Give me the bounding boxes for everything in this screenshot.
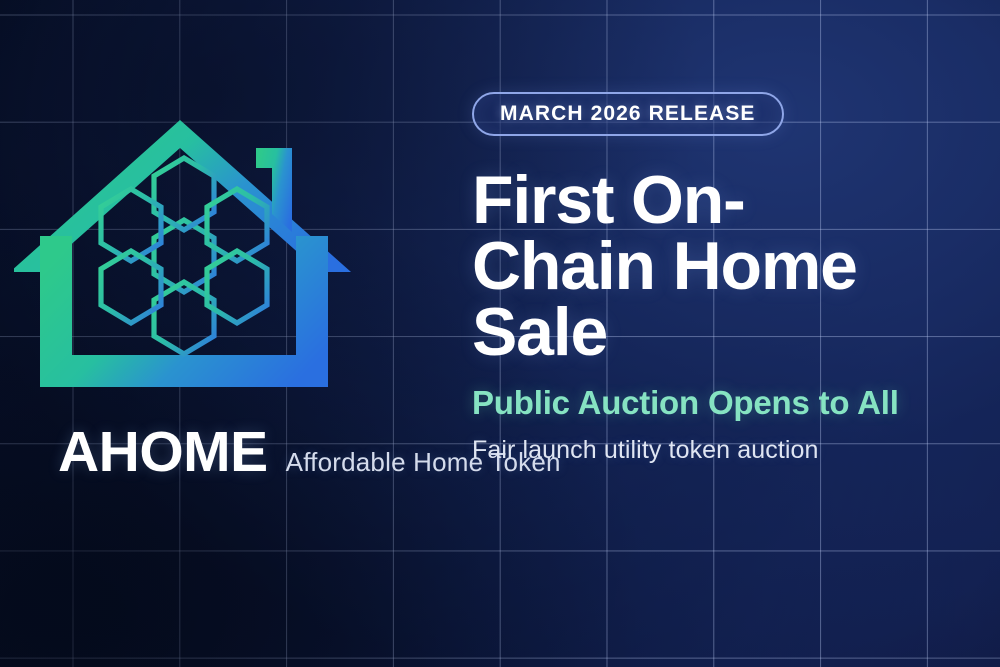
subtitle: Public Auction Opens to All [472, 386, 972, 421]
house-hexagon-logo-icon [14, 112, 354, 397]
announcement-copy-block: MARCH 2026 RELEASE First On-Chain Home S… [472, 92, 972, 464]
announcement-banner: AHOME Affordable Home Token MARCH 2026 R… [0, 0, 1000, 667]
release-date-badge: MARCH 2026 RELEASE [472, 92, 784, 136]
supporting-text: Fair launch utility token auction [472, 437, 972, 465]
release-date-badge-label: MARCH 2026 RELEASE [500, 102, 756, 126]
page-title: First On-Chain Home Sale [472, 168, 912, 366]
brand-wordmark: AHOME [58, 424, 268, 481]
